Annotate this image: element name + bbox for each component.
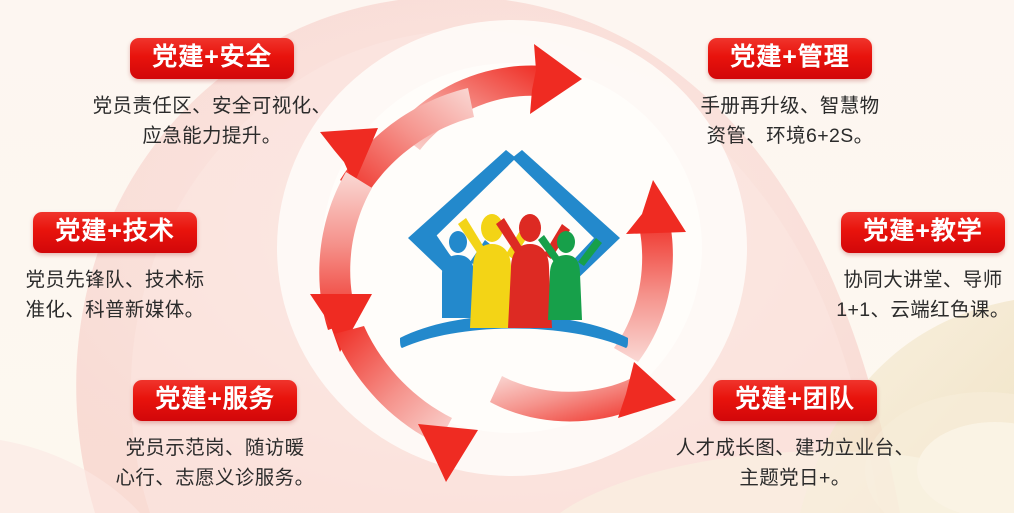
badge-teaching[interactable]: 党建+教学 bbox=[841, 212, 1005, 253]
badge-team[interactable]: 党建+团队 bbox=[713, 380, 877, 421]
badge-technology[interactable]: 党建+技术 bbox=[33, 212, 197, 253]
item-safety[interactable]: 党建+安全 党员责任区、安全可视化、 应急能力提升。 bbox=[72, 38, 352, 151]
item-technology[interactable]: 党建+技术 党员先锋队、技术标 准化、科普新媒体。 bbox=[0, 212, 255, 325]
badge-safety[interactable]: 党建+安全 bbox=[130, 38, 294, 79]
item-team[interactable]: 党建+团队 人才成长图、建功立业台、 主题党日+。 bbox=[655, 380, 935, 493]
desc-technology: 党员先锋队、技术标 准化、科普新媒体。 bbox=[0, 265, 255, 325]
item-teaching[interactable]: 党建+教学 协同大讲堂、导师 1+1、云端红色课。 bbox=[783, 212, 1014, 325]
badge-management[interactable]: 党建+管理 bbox=[708, 38, 872, 79]
desc-management: 手册再升级、智慧物 资管、环境6+2S。 bbox=[650, 91, 930, 151]
item-service[interactable]: 党建+服务 党员示范岗、随访暖 心行、志愿义诊服务。 bbox=[75, 380, 355, 493]
infographic-canvas: 党建+安全 党员责任区、安全可视化、 应急能力提升。 党建+管理 手册再升级、智… bbox=[0, 0, 1014, 513]
desc-teaching: 协同大讲堂、导师 1+1、云端红色课。 bbox=[783, 265, 1014, 325]
cycle-arrow bbox=[310, 172, 372, 352]
badge-service[interactable]: 党建+服务 bbox=[133, 380, 297, 421]
party-building-people-logo bbox=[388, 142, 640, 354]
desc-service: 党员示范岗、随访暖 心行、志愿义诊服务。 bbox=[75, 433, 355, 493]
desc-team: 人才成长图、建功立业台、 主题党日+。 bbox=[655, 433, 935, 493]
item-management[interactable]: 党建+管理 手册再升级、智慧物 资管、环境6+2S。 bbox=[650, 38, 930, 151]
desc-safety: 党员责任区、安全可视化、 应急能力提升。 bbox=[72, 91, 352, 151]
cycle-arrow bbox=[490, 362, 676, 422]
